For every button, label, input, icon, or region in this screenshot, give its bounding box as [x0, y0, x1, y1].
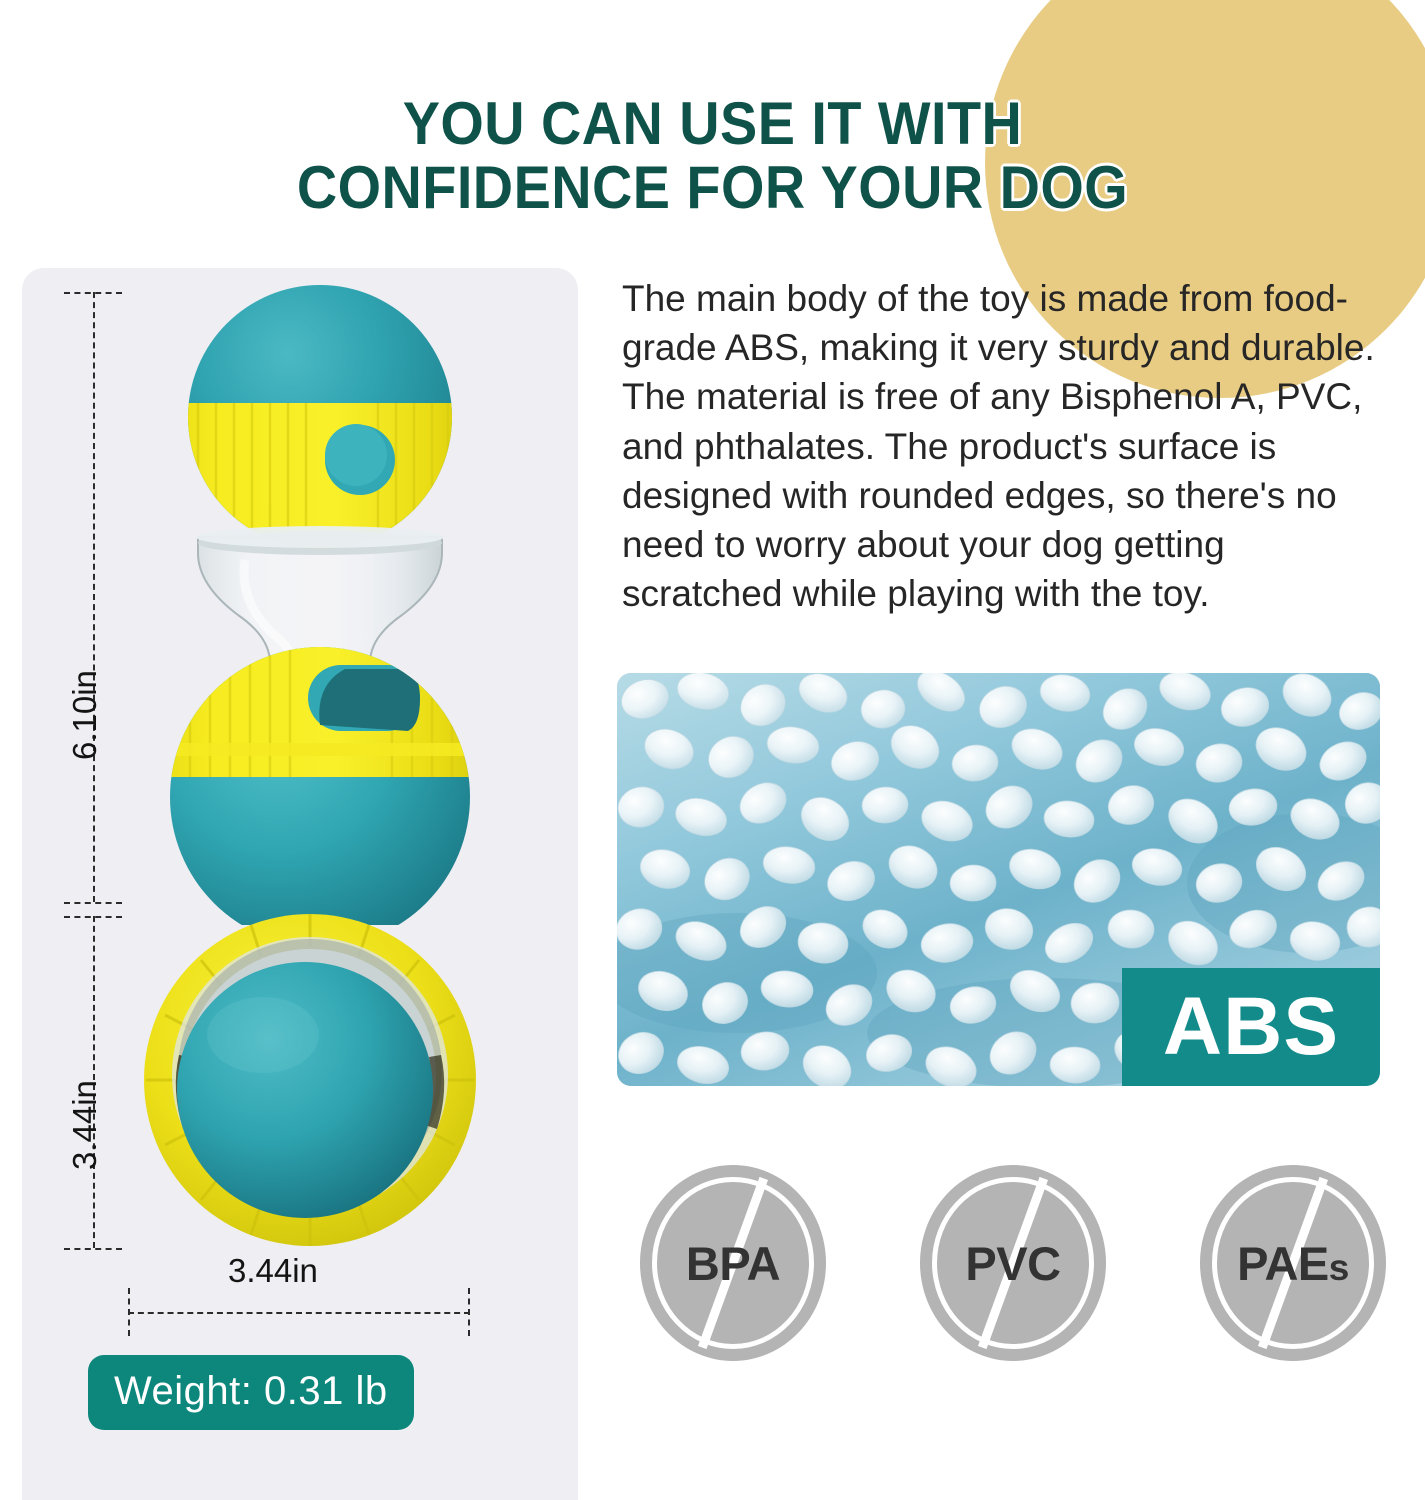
dim-line-height [93, 292, 95, 902]
badge-label-bpa: BPA [686, 1236, 780, 1291]
product-image-top-view [135, 905, 485, 1255]
badge-label-pvc: PVC [965, 1236, 1060, 1291]
description-paragraph: The main body of the toy is made from fo… [622, 274, 1382, 618]
dim-tick-right-width [468, 1288, 470, 1336]
dim-tick-bottom-diameter [64, 1248, 122, 1250]
dim-label-height: 6.10in [66, 670, 104, 760]
weight-badge: Weight: 0.31 lb [88, 1355, 414, 1430]
dim-tick-bottom-height [64, 902, 122, 904]
badge-label-paes-suffix: s [1329, 1247, 1349, 1288]
dim-line-diameter-horizontal [128, 1312, 470, 1314]
abs-label-tag: ABS [1122, 968, 1380, 1086]
dim-label-diameter-vertical: 3.44in [66, 1080, 104, 1170]
badge-no-paes: PAEs [1200, 1165, 1386, 1361]
badge-no-pvc: PVC [920, 1165, 1106, 1361]
page-title: YOU CAN USE IT WITH CONFIDENCE FOR YOUR … [50, 92, 1375, 220]
product-image-side-view [120, 285, 520, 925]
free-from-badge-group: BPA PVC PAEs [640, 1163, 1386, 1363]
headline-line-2: CONFIDENCE FOR YOUR DOG [50, 156, 1375, 220]
abs-material-photo-card: ABS [617, 673, 1380, 1086]
dim-label-diameter-horizontal: 3.44in [228, 1252, 318, 1290]
badge-label-paes-main: PAE [1237, 1237, 1329, 1290]
badge-no-bpa: BPA [640, 1165, 826, 1361]
headline-line-1: YOU CAN USE IT WITH [50, 92, 1375, 156]
abs-label-text: ABS [1163, 986, 1339, 1068]
badge-label-paes: PAEs [1237, 1236, 1349, 1291]
